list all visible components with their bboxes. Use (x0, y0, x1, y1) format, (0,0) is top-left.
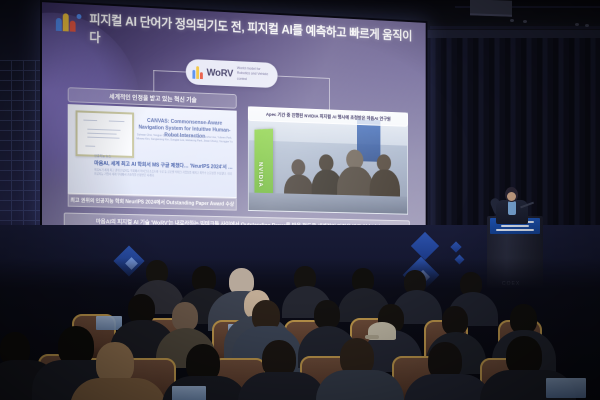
audience-head (442, 306, 468, 335)
connector-line (153, 70, 154, 92)
projector (470, 0, 512, 17)
connector-line (153, 70, 185, 72)
ceiling-beam (430, 26, 600, 29)
speaker-shirt (508, 201, 516, 215)
connector-line (278, 76, 329, 79)
award-certificate-image (76, 110, 134, 158)
audience-head (172, 302, 198, 331)
audience-shoulders (238, 372, 326, 400)
worv-tagline: World model for Robotics and Vehicle con… (237, 66, 271, 82)
laptop (546, 378, 586, 398)
slide-title: 피지컬 AI 단어가 정의되기도 전, 피지컬 AI를 예측하고 빠르게 움직이… (89, 11, 417, 63)
audience-shoulders (404, 374, 492, 400)
maum-ai-logo (56, 11, 82, 32)
connector-line (329, 78, 330, 111)
audience-shoulders (316, 370, 404, 400)
worv-logo-pill: WoRV World model for Robotics and Vehicl… (186, 59, 278, 88)
worv-logo-icon (192, 65, 202, 78)
ceiling-light (523, 20, 527, 23)
audience-head (314, 300, 340, 329)
laptop (172, 386, 206, 400)
news-clipping: 인공지능 뉴스 마음AI, 세계 최고 AI 학회서 MS 구글 제쳤다… 'N… (94, 154, 234, 181)
ceiling-light (575, 23, 579, 26)
worv-name: WoRV (207, 67, 234, 79)
speaker-face (507, 192, 516, 201)
ceiling-light (510, 19, 514, 22)
audience-cap (368, 322, 396, 340)
left-panel-body: CANVAS: Commonsense-Aware Navigation Sys… (68, 104, 237, 198)
conference-photo-scene: 피지컬 AI 단어가 정의되기도 전, 피지컬 AI를 예측하고 빠르게 움직이… (0, 0, 600, 400)
ceiling-light (585, 24, 589, 27)
curtain-rail (425, 30, 600, 38)
photo-banner-text: NVIDIA (257, 162, 263, 188)
photo-foreground (249, 193, 408, 214)
audience-area (0, 258, 600, 400)
news-body: 마음AI가 세계 최고 권위 인공지능 학회에서 마이크로소프트와 구글 등 글… (94, 169, 234, 181)
photo-person-head (291, 159, 305, 176)
